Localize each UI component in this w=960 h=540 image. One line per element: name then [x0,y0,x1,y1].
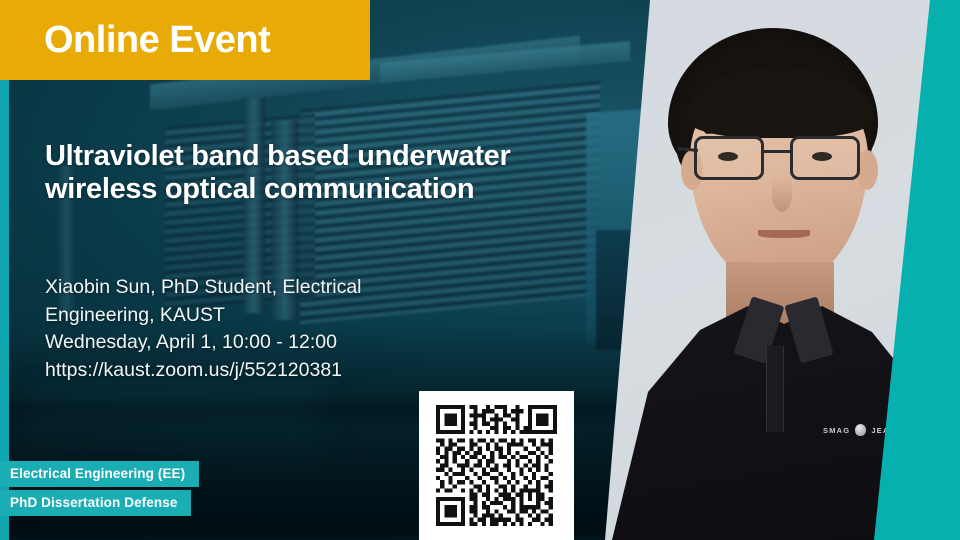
tag-badges: Electrical Engineering (EE) PhD Disserta… [0,461,199,516]
eyeglasses-bridge [763,150,791,153]
shirt-brand-text-left: SMAG [823,426,850,435]
event-details: Xiaobin Sun, PhD Student, Electrical Eng… [45,274,475,385]
event-title: Ultraviolet band based underwater wirele… [45,140,515,207]
qr-code[interactable] [436,405,557,526]
online-event-label: Online Event [44,21,270,59]
badge-row: PhD Dissertation Defense [0,490,199,516]
portrait-mouth [758,230,810,238]
badge-event-type: PhD Dissertation Defense [0,490,191,516]
eyeglasses-lens-left [694,136,764,180]
badge-row: Electrical Engineering (EE) [0,461,199,487]
portrait-nose [772,178,792,212]
speaker-affiliation-line: Xiaobin Sun, PhD Student, Electrical Eng… [45,274,475,329]
shirt-placket [766,346,784,432]
qr-code-card[interactable] [419,391,574,540]
shirt-brand-crest-icon [855,424,866,436]
event-datetime-line: Wednesday, April 1, 10:00 - 12:00 [45,329,475,357]
event-poster: SMAG JEANS Online Event Ultraviolet band… [0,0,960,540]
event-zoom-link[interactable]: https://kaust.zoom.us/j/552120381 [45,357,475,385]
badge-department: Electrical Engineering (EE) [0,461,199,487]
online-event-banner: Online Event [0,0,370,80]
eyeglasses-lens-right [790,136,860,180]
